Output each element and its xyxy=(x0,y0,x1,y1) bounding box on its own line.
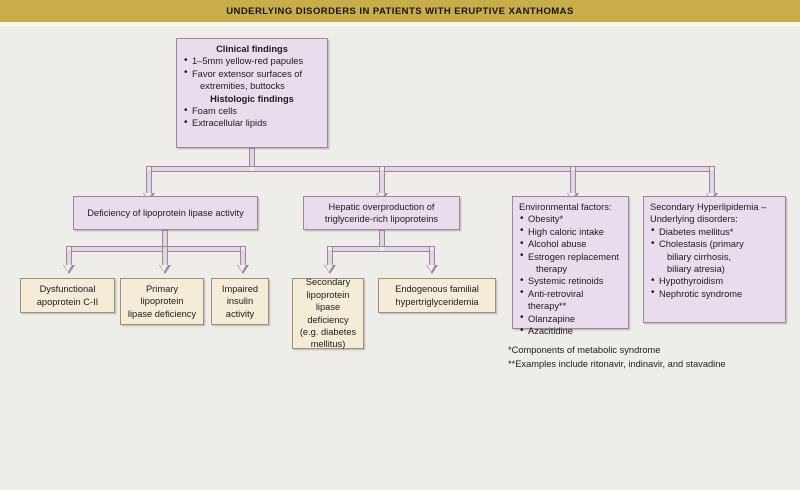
page-title: Underlying disorders in patients with er… xyxy=(226,6,574,17)
join-mask xyxy=(380,167,384,170)
join-mask xyxy=(241,247,245,250)
node-line: hypertriglyceridemia xyxy=(395,296,478,308)
arrow-head xyxy=(63,265,75,274)
node-clinical-histologic-findings: Clinical findings 1–5mm yellow-red papul… xyxy=(176,38,328,148)
list-item: Alcohol abuse xyxy=(519,238,622,250)
list-item: Obesity* xyxy=(519,213,622,225)
environmental-lead: Environmental factors: xyxy=(519,201,622,213)
node-hepatic-overproduction: Hepatic overproduction of triglyceride-r… xyxy=(303,196,460,230)
list-item: Azacitidine xyxy=(519,325,622,337)
node-line: insulin xyxy=(227,295,253,307)
environmental-list: Obesity* High caloric intake Alcohol abu… xyxy=(519,213,622,337)
connector-drop-lpl xyxy=(146,166,152,196)
list-item: Extracellular lipids xyxy=(183,117,321,129)
list-item: Systemic retinoids xyxy=(519,275,622,287)
footnote-double-asterisk: **Examples include ritonavir, indinavir,… xyxy=(508,357,793,371)
clinical-findings-heading: Clinical findings xyxy=(183,43,321,55)
node-line: lipoprotein xyxy=(307,289,350,301)
connector-lpl-bus xyxy=(66,246,246,252)
list-item: biliary atresia) xyxy=(650,263,779,275)
join-mask xyxy=(380,247,384,251)
list-item: 1–5mm yellow-red papules xyxy=(183,55,321,67)
list-item: biliary cirrhosis, xyxy=(650,251,779,263)
node-line: Endogenous familial xyxy=(395,283,479,295)
arrow-head xyxy=(237,265,249,274)
join-mask xyxy=(571,167,575,170)
node-environmental-factors: Environmental factors: Obesity* High cal… xyxy=(512,196,629,329)
connector-drop-secondary xyxy=(709,166,715,196)
footnotes: *Components of metabolic syndrome **Exam… xyxy=(508,343,793,371)
list-item: Estrogen replacement xyxy=(519,251,622,263)
node-secondary-lipoprotein-lipase-deficiency: Secondary lipoprotein lipase deficiency … xyxy=(292,278,364,349)
node-impaired-insulin-activity: Impaired insulin activity xyxy=(211,278,269,325)
list-item: Cholestasis (primary xyxy=(650,238,779,250)
node-line: Dysfunctional xyxy=(40,283,96,295)
join-mask xyxy=(430,247,434,250)
list-item: Foam cells xyxy=(183,105,321,117)
list-item: Nephrotic syndrome xyxy=(650,288,779,300)
clinical-findings-list: 1–5mm yellow-red papules Favor extensor … xyxy=(183,55,321,92)
list-item: Anti-retroviral therapy** xyxy=(519,288,622,313)
node-line: (e.g. diabetes xyxy=(300,326,356,338)
node-line: lipase deficiency xyxy=(128,308,196,320)
list-item: Diabetes mellitus* xyxy=(650,226,779,238)
node-lipoprotein-lipase-deficiency: Deficiency of lipoprotein lipase activit… xyxy=(73,196,258,230)
node-line: lipoprotein xyxy=(141,295,184,307)
secondary-lead-line-1: Secondary Hyperlipidemia – xyxy=(650,201,779,213)
node-endogenous-familial-hypertriglyceridemia: Endogenous familial hypertriglyceridemia xyxy=(378,278,496,313)
list-item: therapy xyxy=(519,263,622,275)
join-mask xyxy=(250,167,254,171)
join-mask xyxy=(67,247,71,250)
connector-drop-environmental xyxy=(570,166,576,196)
connector-drop-hepatic xyxy=(379,166,385,196)
secondary-hyperlipidemia-list: Diabetes mellitus* Cholestasis (primary … xyxy=(650,226,779,300)
arrow-head xyxy=(426,265,438,274)
histologic-findings-heading: Histologic findings xyxy=(183,93,321,105)
footnote-single-asterisk: *Components of metabolic syndrome xyxy=(508,343,793,357)
connector-level2-bus xyxy=(146,166,715,172)
node-dysfunctional-apoprotein-c2: Dysfunctional apoprotein C-II xyxy=(20,278,115,313)
node-line: Hepatic overproduction of xyxy=(329,201,435,213)
node-line: triglyceride-rich lipoproteins xyxy=(325,213,438,225)
join-mask xyxy=(710,167,714,170)
node-line: lipase deficiency xyxy=(299,301,357,326)
histologic-findings-list: Foam cells Extracellular lipids xyxy=(183,105,321,130)
list-item: High caloric intake xyxy=(519,226,622,238)
node-secondary-hyperlipidemia: Secondary Hyperlipidemia – Underlying di… xyxy=(643,196,786,323)
arrow-head xyxy=(159,265,171,274)
node-line: apoprotein C-II xyxy=(37,296,99,308)
list-item: Favor extensor surfaces of xyxy=(183,68,321,80)
secondary-lead-line-2: Underlying disorders: xyxy=(650,213,779,225)
arrow-head xyxy=(324,265,336,274)
node-line: Primary xyxy=(146,283,178,295)
node-line: Impaired xyxy=(222,283,258,295)
diagram-canvas: Underlying disorders in patients with er… xyxy=(0,0,800,490)
node-line: Secondary xyxy=(306,276,350,288)
node-line: Deficiency of lipoprotein lipase activit… xyxy=(87,207,244,219)
join-mask xyxy=(328,247,332,250)
header-underline xyxy=(0,22,800,26)
header-bar: Underlying disorders in patients with er… xyxy=(0,0,800,22)
list-item: Olanzapine xyxy=(519,313,622,325)
join-mask xyxy=(147,167,151,170)
list-item: extremities, buttocks xyxy=(183,80,321,92)
node-primary-lipoprotein-lipase-deficiency: Primary lipoprotein lipase deficiency xyxy=(120,278,204,325)
node-line: mellitus) xyxy=(311,338,346,350)
node-line: activity xyxy=(226,308,254,320)
list-item: Hypothyroidism xyxy=(650,275,779,287)
